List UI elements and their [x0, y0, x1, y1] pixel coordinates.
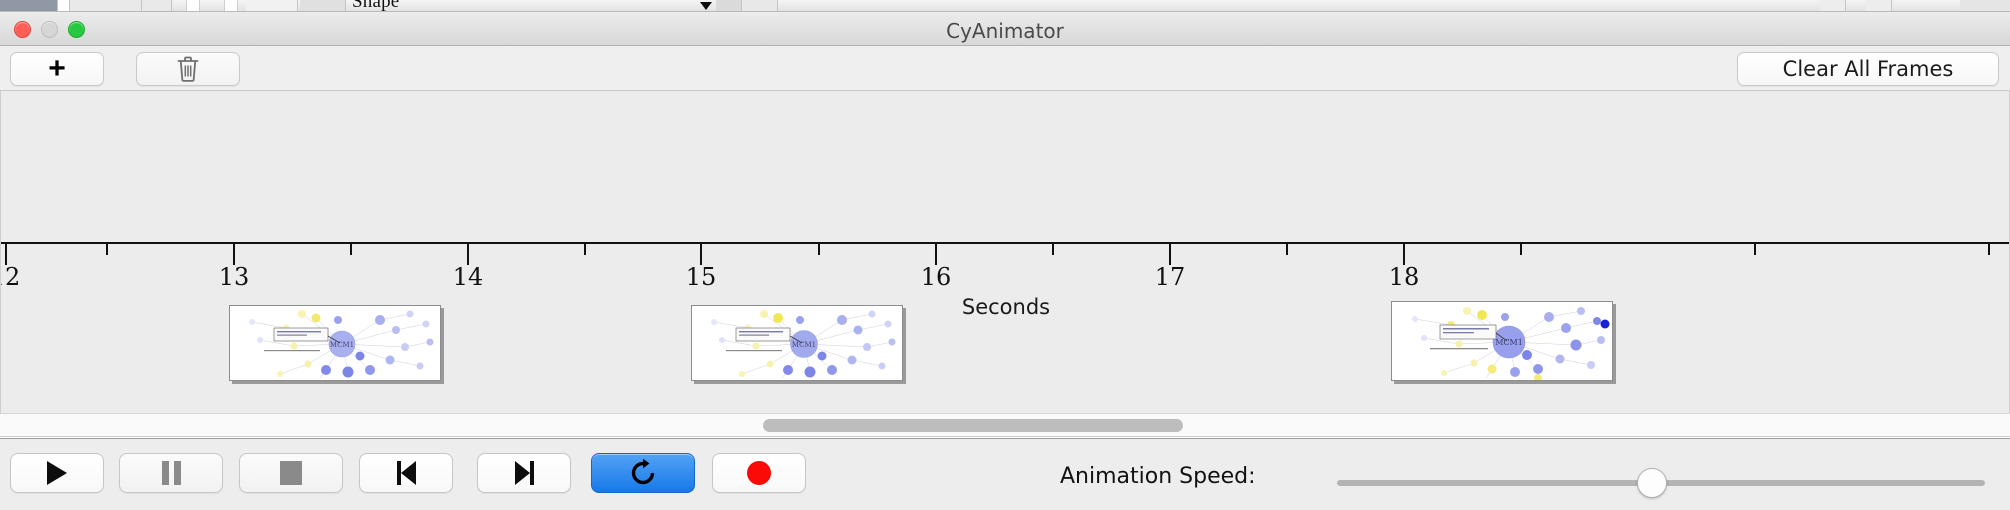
axis-major-tick: [700, 244, 702, 265]
animation-speed-slider-thumb[interactable]: [1637, 468, 1667, 498]
bg-shape-label: Shape: [352, 0, 399, 12]
frame-toolbar: + Clear All Frames: [0, 46, 2010, 91]
bg-tab-7: [742, 0, 778, 12]
record-button[interactable]: [712, 453, 806, 493]
play-icon: [47, 461, 67, 485]
timeline-scrollbar-thumb[interactable]: [763, 419, 1183, 432]
timeline-axis-line: [1, 242, 2010, 244]
axis-tick-label: 12: [0, 263, 20, 291]
axis-major-tick: [233, 244, 235, 265]
clear-all-frames-button[interactable]: Clear All Frames: [1737, 52, 1999, 86]
axis-major-tick: [467, 244, 469, 265]
axis-tick-label: 16: [921, 263, 952, 291]
pause-button[interactable]: [119, 453, 223, 493]
loop-button[interactable]: [591, 453, 695, 493]
skip-forward-icon: [515, 461, 534, 485]
axis-tick-label: 14: [453, 263, 484, 291]
bg-notch-2: [224, 0, 238, 12]
play-button[interactable]: [10, 453, 104, 493]
axis-minor-tick: [1286, 244, 1288, 255]
axis-tick-label: 13: [219, 263, 250, 291]
bg-tab-6: [716, 0, 742, 12]
axis-tick-label: 17: [1155, 263, 1186, 291]
axis-major-tick: [935, 244, 937, 265]
skip-back-icon: [397, 461, 416, 485]
bg-tab-10: [1960, 0, 2010, 12]
bg-tab-3: [142, 0, 172, 12]
stop-icon: [280, 461, 302, 485]
timeline-panel[interactable]: MCM1: [0, 91, 2010, 413]
axis-tick-label: 18: [1389, 263, 1420, 291]
bg-tab-selected: [0, 0, 58, 12]
animation-speed-label: Animation Speed:: [1060, 464, 1256, 489]
window-title: CyAnimator: [0, 19, 2010, 43]
skip-to-end-button[interactable]: [477, 453, 571, 493]
axis-major-tick: [1169, 244, 1171, 265]
skip-to-start-button[interactable]: [359, 453, 453, 493]
bg-notch-1: [186, 0, 200, 12]
axis-minor-tick: [106, 244, 108, 255]
stop-button[interactable]: [239, 453, 343, 493]
bg-tab-4: [246, 0, 298, 12]
svg-text:MCM1: MCM1: [1495, 338, 1523, 347]
bg-tab-9: [1866, 0, 1892, 12]
axis-minor-tick: [350, 244, 352, 255]
axis-title: Seconds: [1, 295, 2010, 319]
axis-minor-tick: [1052, 244, 1054, 255]
axis-tick-label: 15: [686, 263, 717, 291]
cyanimator-window: Shape CyAnimator + Clear All Fra: [0, 0, 2010, 510]
bg-tab-5: [300, 0, 346, 12]
trash-icon: [176, 55, 200, 83]
bg-caret-icon: [700, 2, 712, 10]
title-bar: CyAnimator: [0, 12, 2010, 46]
axis-minor-tick: [1754, 244, 1756, 255]
pause-icon: [162, 461, 181, 485]
loop-icon: [628, 458, 658, 488]
delete-frame-button[interactable]: [136, 52, 240, 86]
axis-minor-tick: [584, 244, 586, 255]
record-icon: [747, 461, 771, 485]
axis-minor-tick: [818, 244, 820, 255]
svg-text:MCM1: MCM1: [330, 341, 354, 349]
playback-bar: Animation Speed:: [0, 438, 2010, 510]
bg-tab-2: [70, 0, 142, 12]
plus-icon: +: [48, 54, 66, 84]
axis-major-tick: [5, 244, 7, 265]
axis-minor-tick: [1520, 244, 1522, 255]
bg-tab-8: [1820, 0, 1846, 12]
axis-minor-tick: [1988, 244, 1990, 255]
background-window-strip: Shape: [0, 0, 2010, 12]
add-frame-button[interactable]: +: [10, 52, 104, 86]
axis-major-tick: [1403, 244, 1405, 265]
bg-gap-1: [58, 0, 70, 12]
svg-text:MCM1: MCM1: [792, 341, 816, 349]
